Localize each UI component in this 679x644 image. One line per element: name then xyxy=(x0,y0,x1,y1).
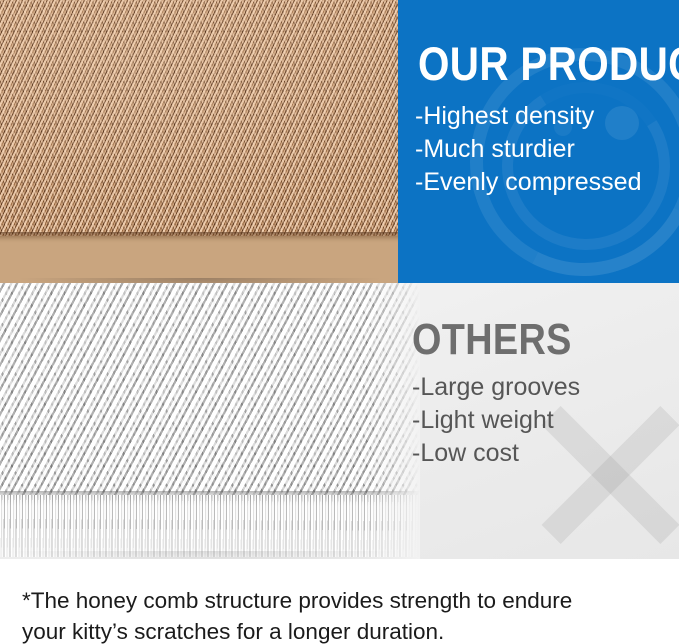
others-bullet-1: -Large grooves xyxy=(412,371,580,404)
grey-slab-front-edge xyxy=(0,495,420,557)
our-product-info-panel: OUR PRODUCT -Highest density -Much sturd… xyxy=(398,0,679,283)
brown-slab-front-edge xyxy=(0,236,398,283)
our-product-bullet-list: -Highest density -Much sturdier -Evenly … xyxy=(415,100,641,199)
others-bullet-list: -Large grooves -Light weight -Low cost xyxy=(412,371,580,470)
others-info-panel: OTHERS -Large grooves -Light weight -Low… xyxy=(398,283,679,559)
others-bullet-3: -Low cost xyxy=(412,437,580,470)
our-product-bullet-3: -Evenly compressed xyxy=(415,166,641,199)
footer-note-line-2: your kitty’s scratches for a longer dura… xyxy=(22,616,662,644)
product-comparison-infographic: OUR PRODUCT -Highest density -Much sturd… xyxy=(0,0,679,644)
our-product-bullet-1: -Highest density xyxy=(415,100,641,133)
our-product-heading: OUR PRODUCT xyxy=(418,40,679,87)
others-bullet-2: -Light weight xyxy=(412,404,580,437)
our-product-bullet-2: -Much sturdier xyxy=(415,133,641,166)
others-product-image xyxy=(0,283,420,559)
grey-slab-shadow xyxy=(0,551,420,559)
brown-honeycomb-texture xyxy=(0,0,398,242)
footer-note-line-1: *The honey comb structure provides stren… xyxy=(22,585,662,616)
footer-note: *The honey comb structure provides stren… xyxy=(0,559,679,644)
grey-honeycomb-texture xyxy=(0,283,420,505)
our-product-image xyxy=(0,0,398,283)
others-section: OTHERS -Large grooves -Light weight -Low… xyxy=(0,283,679,559)
our-product-section: OUR PRODUCT -Highest density -Much sturd… xyxy=(0,0,679,283)
others-heading: OTHERS xyxy=(412,318,572,362)
